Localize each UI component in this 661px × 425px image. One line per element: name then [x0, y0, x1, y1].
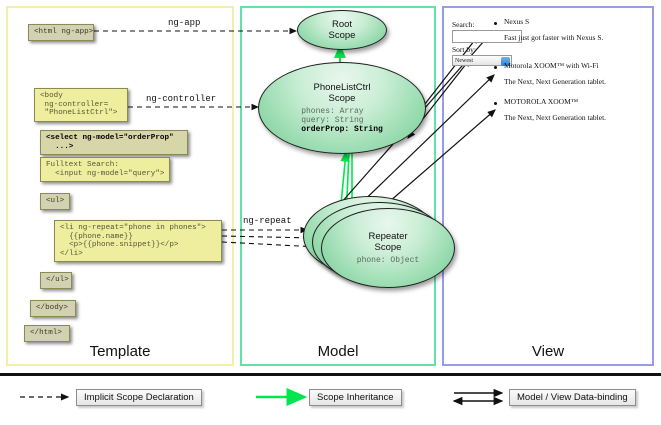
view-phone-snippet: Fast just got faster with Nexus S.	[504, 33, 603, 42]
panel-model-title: Model	[242, 343, 434, 360]
scope-phonelistctrl-title-1: PhoneListCtrl	[313, 82, 370, 93]
label-ng-controller: ng-controller	[146, 94, 216, 104]
view-phone-name[interactable]: MOTOROLA XOOM™	[504, 97, 578, 106]
view-search-label: Search:	[452, 20, 475, 29]
list-bullet	[494, 102, 497, 105]
scope-repeater-title-1: Repeater	[368, 231, 407, 242]
code-fulltext-search[interactable]: Fulltext Search: <input ng-model="query"…	[40, 157, 170, 182]
code-body-controller[interactable]: <body ng-controller= "PhoneListCtrl">	[34, 88, 128, 122]
scope-prop-query: query: String	[301, 116, 383, 125]
code-ul-close[interactable]: </ul>	[40, 272, 72, 289]
list-bullet	[494, 66, 497, 69]
scope-root-title-2: Scope	[329, 30, 356, 41]
panel-template-title: Template	[8, 343, 232, 360]
scope-repeater-title-2: Scope	[375, 242, 402, 253]
scope-repeater-props: phone: Object	[357, 256, 419, 265]
code-html-tag[interactable]: <html ng-app>	[28, 24, 94, 41]
scope-root-title-1: Root	[332, 19, 352, 30]
list-bullet	[494, 22, 497, 25]
scope-root[interactable]: Root Scope	[297, 10, 387, 50]
view-sort-select[interactable]: Newest	[452, 55, 512, 66]
label-ng-app: ng-app	[168, 18, 200, 28]
scope-prop-orderprop: orderProp: String	[301, 125, 383, 134]
panel-model: Model	[240, 6, 436, 366]
scope-phonelistctrl[interactable]: PhoneListCtrl Scope phones: Array query:…	[258, 62, 426, 154]
code-html-close[interactable]: </html>	[24, 325, 70, 342]
code-li-ngrepeat[interactable]: <li ng-repeat="phone in phones"> {{phone…	[54, 220, 222, 262]
view-sort-value: Newest	[455, 58, 473, 64]
legend: Implicit Scope Declaration Scope Inherit…	[6, 380, 655, 420]
code-body-close[interactable]: </body>	[30, 300, 76, 317]
code-ul-open[interactable]: <ul>	[40, 193, 70, 210]
legend-model-view-data-binding: Model / View Data-binding	[509, 389, 636, 406]
scope-prop-phone: phone: Object	[357, 256, 419, 265]
legend-implicit-scope-declaration: Implicit Scope Declaration	[76, 389, 202, 406]
view-phone-name[interactable]: Nexus S	[504, 17, 529, 26]
scope-phonelistctrl-title-2: Scope	[329, 93, 356, 104]
view-phone-name[interactable]: Motorola XOOM™ with Wi-Fi	[504, 61, 599, 70]
legend-divider	[0, 373, 661, 376]
label-ng-repeat: ng-repeat	[243, 216, 292, 226]
scope-repeater[interactable]: Repeater Scope phone: Object	[321, 208, 455, 288]
scope-prop-phones: phones: Array	[301, 107, 383, 116]
view-phone-snippet: The Next, Next Generation tablet.	[504, 77, 606, 86]
view-sort-label: Sort by:	[452, 45, 476, 54]
code-select-orderprop[interactable]: <select ng-model="orderProp" ...>	[40, 130, 188, 155]
legend-scope-inheritance: Scope Inheritance	[309, 389, 402, 406]
view-phone-snippet: The Next, Next Generation tablet.	[504, 113, 606, 122]
panel-view-title: View	[444, 343, 652, 360]
scope-phonelistctrl-props: phones: Array query: String orderProp: S…	[301, 107, 383, 134]
